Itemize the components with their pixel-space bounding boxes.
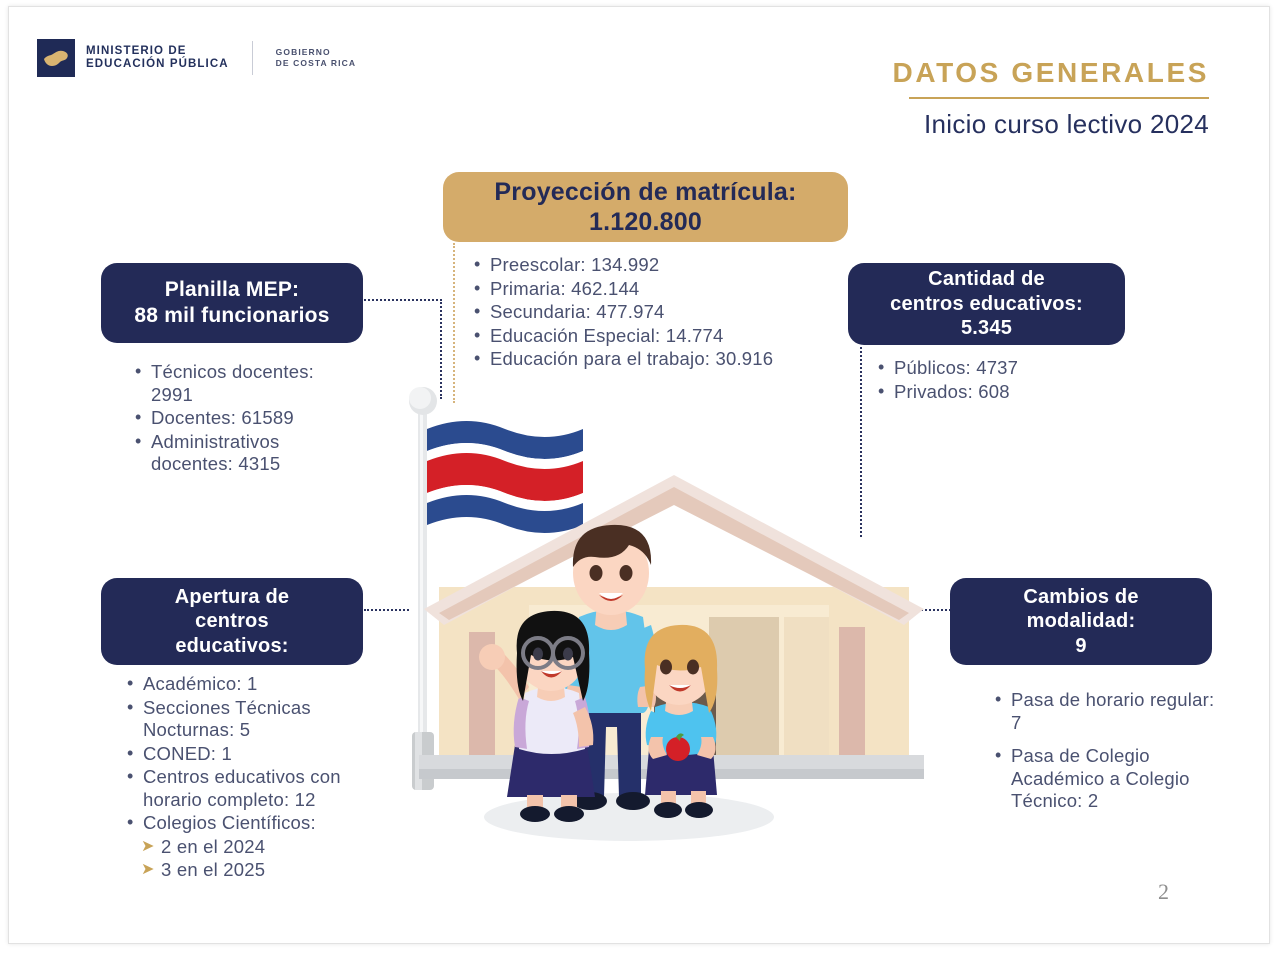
list-item: Pasa de horario regular: 7 [995, 689, 1220, 734]
card-centros-list: Públicos: 4737 Privados: 608 [878, 357, 1118, 404]
slide-canvas: MINISTERIO DE EDUCACIÓN PÚBLICA GOBIERNO… [8, 6, 1270, 944]
page-number: 2 [1158, 879, 1169, 905]
card-matricula-header[interactable]: Proyección de matrícula: 1.120.800 [443, 172, 848, 242]
card-modalidad-header[interactable]: Cambios de modalidad: 9 [950, 578, 1212, 665]
card-matricula-list: Preescolar: 134.992 Primaria: 462.144 Se… [474, 254, 784, 372]
card-matricula-title: Proyección de matrícula: 1.120.800 [484, 177, 806, 238]
card-apertura-header[interactable]: Apertura de centros educativos: [101, 578, 363, 665]
costa-rica-map-icon [37, 39, 75, 77]
list-item: Centros educativos con horario completo:… [127, 766, 397, 811]
list-item: Educación Especial: 14.774 [474, 325, 784, 348]
card-planilla-header[interactable]: Planilla MEP: 88 mil funcionarios [101, 263, 363, 343]
list-item: 3 en el 2025 [127, 859, 397, 882]
mep-logo: MINISTERIO DE EDUCACIÓN PÚBLICA GOBIERNO… [37, 39, 356, 77]
logo-ministry-line1: MINISTERIO DE [86, 45, 229, 59]
list-item: Pasa de Colegio Académico a Colegio Técn… [995, 745, 1220, 813]
list-item: Primaria: 462.144 [474, 278, 784, 301]
list-item: Públicos: 4737 [878, 357, 1118, 380]
card-centros-title: Cantidad de centros educativos: 5.345 [880, 267, 1093, 340]
header-subtitle: Inicio curso lectivo 2024 [789, 109, 1209, 140]
card-apertura-title: Apertura de centros educativos: [165, 585, 299, 658]
card-planilla-list: Técnicos docentes: 2991 Docentes: 61589 … [135, 361, 360, 477]
card-planilla-title: Planilla MEP: 88 mil funcionarios [124, 277, 339, 328]
list-item: Académico: 1 [127, 673, 397, 696]
list-item: Técnicos docentes: 2991 [135, 361, 360, 406]
list-item: Secundaria: 477.974 [474, 301, 784, 324]
list-item: Colegios Científicos: [127, 812, 397, 835]
logo-gov-line2: DE COSTA RICA [276, 58, 356, 69]
card-centros-header[interactable]: Cantidad de centros educativos: 5.345 [848, 263, 1125, 345]
list-item: CONED: 1 [127, 743, 397, 766]
page-title: DATOS GENERALES [789, 57, 1209, 89]
logo-gov-line1: GOBIERNO [276, 47, 356, 58]
costa-rica-flag [427, 421, 583, 533]
figure-girl-blonde [645, 625, 718, 818]
logo-ministry-line2: EDUCACIÓN PÚBLICA [86, 58, 229, 72]
list-item: Secciones Técnicas Nocturnas: 5 [127, 697, 397, 742]
list-item: Administrativos docentes: 4315 [135, 431, 360, 476]
card-modalidad-title: Cambios de modalidad: 9 [1013, 585, 1148, 658]
school-illustration [379, 377, 959, 857]
card-modalidad-list: Pasa de horario regular: 7 Pasa de Coleg… [995, 689, 1220, 824]
list-item: 2 en el 2024 [127, 836, 397, 859]
list-item: Preescolar: 134.992 [474, 254, 784, 277]
list-item: Docentes: 61589 [135, 407, 360, 430]
header-block: DATOS GENERALES Inicio curso lectivo 202… [789, 57, 1209, 140]
logo-divider [252, 41, 253, 75]
list-item: Educación para el trabajo: 30.916 [474, 348, 784, 371]
card-apertura-list: Académico: 1 Secciones Técnicas Nocturna… [127, 673, 397, 883]
slide: MINISTERIO DE EDUCACIÓN PÚBLICA GOBIERNO… [0, 0, 1284, 965]
list-item: Privados: 608 [878, 381, 1118, 404]
connector-planilla-horizontal [364, 299, 442, 301]
title-underline [909, 97, 1209, 99]
